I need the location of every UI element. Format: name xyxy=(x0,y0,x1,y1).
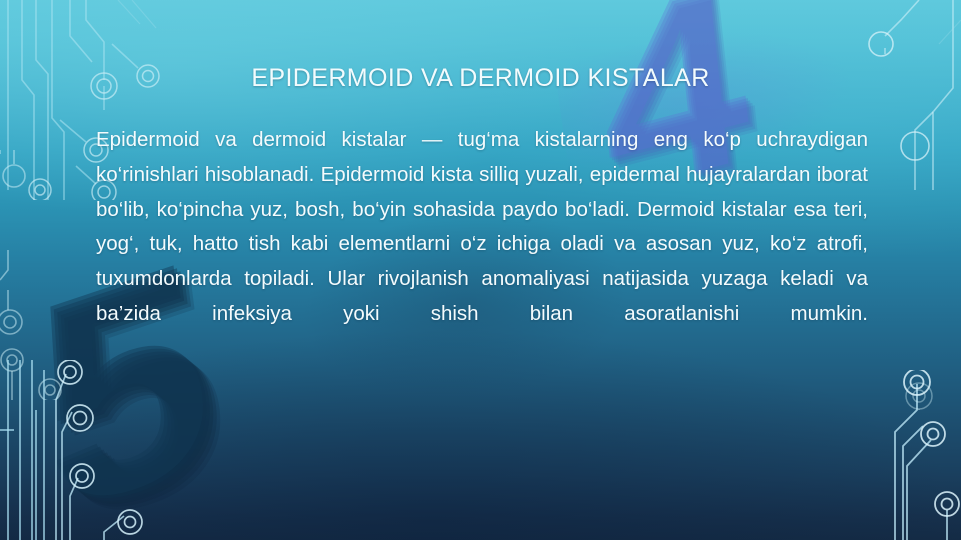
presentation-slide: 4 5 xyxy=(0,0,961,540)
slide-title: EPIDERMOID VA DERMOID KISTALAR xyxy=(0,64,961,93)
slide-body-paragraph: Epidermoid va dermoid kistalar — tug‘ma … xyxy=(96,123,868,367)
slide-content: EPIDERMOID VA DERMOID KISTALAR Epidermoi… xyxy=(0,0,961,540)
